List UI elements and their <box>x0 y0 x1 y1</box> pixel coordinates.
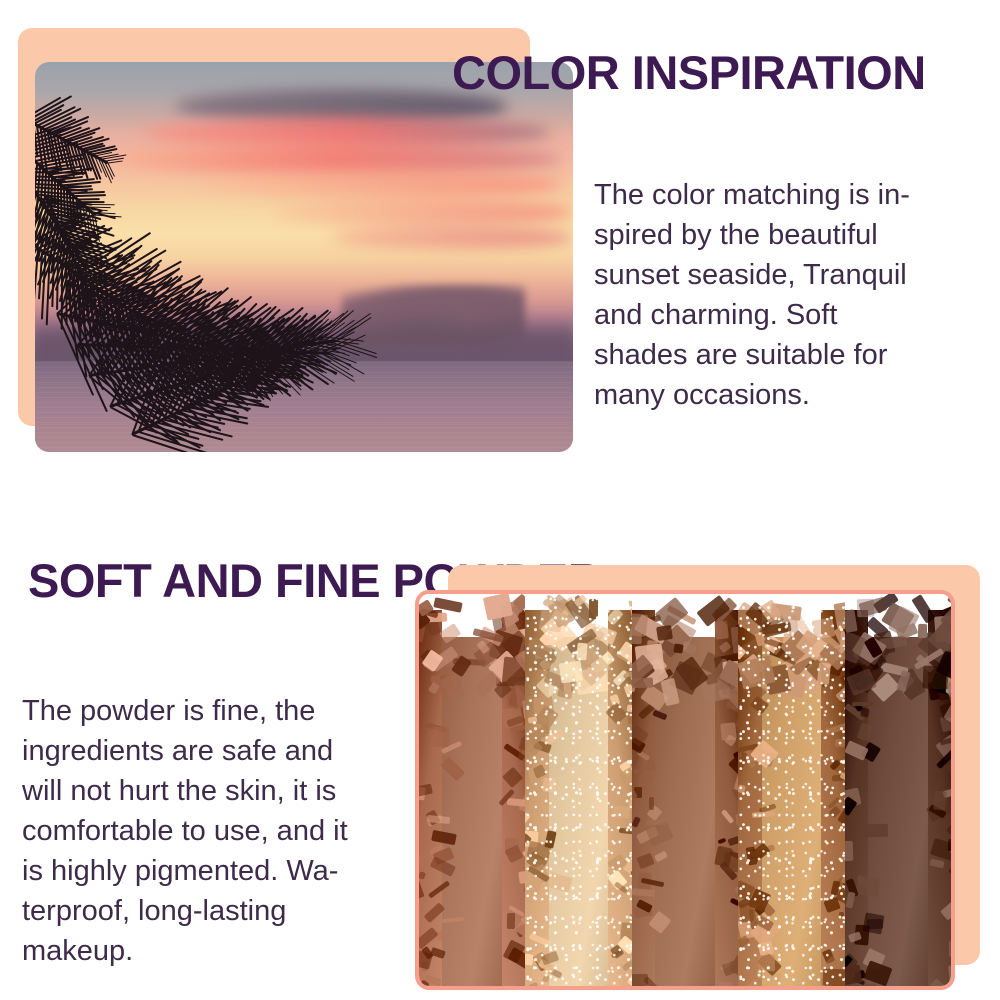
section-body-color-inspiration: The color matching is in- spired by the … <box>594 175 964 415</box>
shimmer-sparkle-overlay <box>738 594 844 986</box>
section-heading-color-inspiration: COLOR INSPIRATION <box>452 49 926 96</box>
powder-swatch-tan-matte <box>419 594 525 986</box>
powder-photo-frame <box>415 590 955 990</box>
shimmer-sparkle-overlay <box>525 594 631 986</box>
product-detail-page: COLOR INSPIRATION The color matching is … <box>0 0 1000 1000</box>
sunset-photo <box>35 62 573 452</box>
powder-swatch-champagne-shimmer <box>525 594 631 986</box>
section-body-soft-and-fine-powder: The powder is fine, the ingredients are … <box>22 691 407 971</box>
powder-swatch-bronze-gold-shimmer <box>738 594 844 986</box>
powder-swatch-warm-brown-matte <box>632 594 738 986</box>
powder-swatch-dark-brown-matte <box>845 594 951 986</box>
powder-photo <box>419 594 951 986</box>
sunset-photo-frame <box>35 62 573 452</box>
